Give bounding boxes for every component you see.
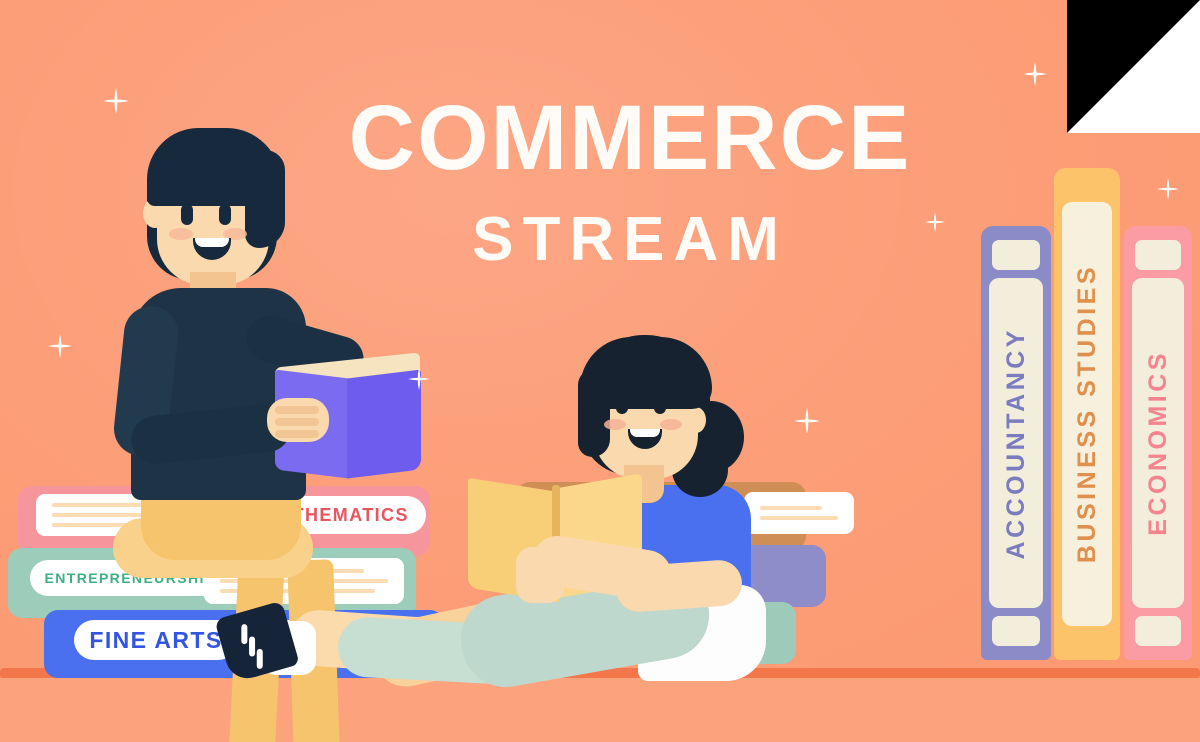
spine-label-business-studies: BUSINESS STUDIES (1073, 264, 1102, 563)
spine-book-business-studies: BUSINESS STUDIES (1054, 168, 1120, 660)
poster-canvas: COMMERCE STREAM MATHEMATICS ENTREPRENEUR… (0, 0, 1200, 742)
spine-inner-panel: ACCOUNTANCY (989, 278, 1042, 608)
female-blush-right (660, 419, 682, 430)
female-blush-left (604, 419, 626, 430)
sparkle-far-right (1157, 178, 1179, 200)
spine-cap-top (1135, 240, 1181, 270)
spine-cap-top (992, 240, 1040, 270)
spine-book-accountancy: ACCOUNTANCY (981, 226, 1051, 660)
female-eye-left (616, 395, 628, 414)
page-corner-fold (1067, 0, 1200, 133)
male-student-reading (95, 120, 415, 680)
female-ear (686, 407, 706, 433)
female-eye-right (654, 395, 666, 414)
sparkle-mid-left (48, 334, 72, 358)
male-eyebrow-left (177, 192, 197, 198)
female-hand (516, 547, 564, 603)
sparkle-top-left (103, 88, 129, 114)
male-eyebrow-right (215, 192, 235, 198)
book-cover-right (347, 369, 421, 478)
male-hair-top (147, 128, 281, 206)
female-hair-left-lock (578, 369, 610, 457)
female-eyebrow-right (650, 383, 670, 389)
spine-cap-bottom (1135, 616, 1181, 646)
male-blush-left (169, 228, 193, 240)
corner-fold-triangle (1067, 0, 1200, 133)
spine-cap-bottom (992, 616, 1040, 646)
spine-label-accountancy: ACCOUNTANCY (1002, 327, 1031, 559)
spine-inner-panel: ECONOMICS (1132, 278, 1184, 608)
male-eye-left (181, 204, 193, 225)
male-hand-left (267, 398, 329, 442)
female-eyebrow-left (612, 383, 632, 389)
male-eye-right (219, 204, 231, 225)
spine-label-economics: ECONOMICS (1144, 350, 1173, 536)
floor-surface (0, 678, 1200, 742)
female-student-reading (520, 335, 990, 680)
sparkle-top-right (1023, 62, 1047, 86)
spine-inner-panel: BUSINESS STUDIES (1062, 202, 1112, 626)
spine-book-economics: ECONOMICS (1124, 226, 1192, 660)
